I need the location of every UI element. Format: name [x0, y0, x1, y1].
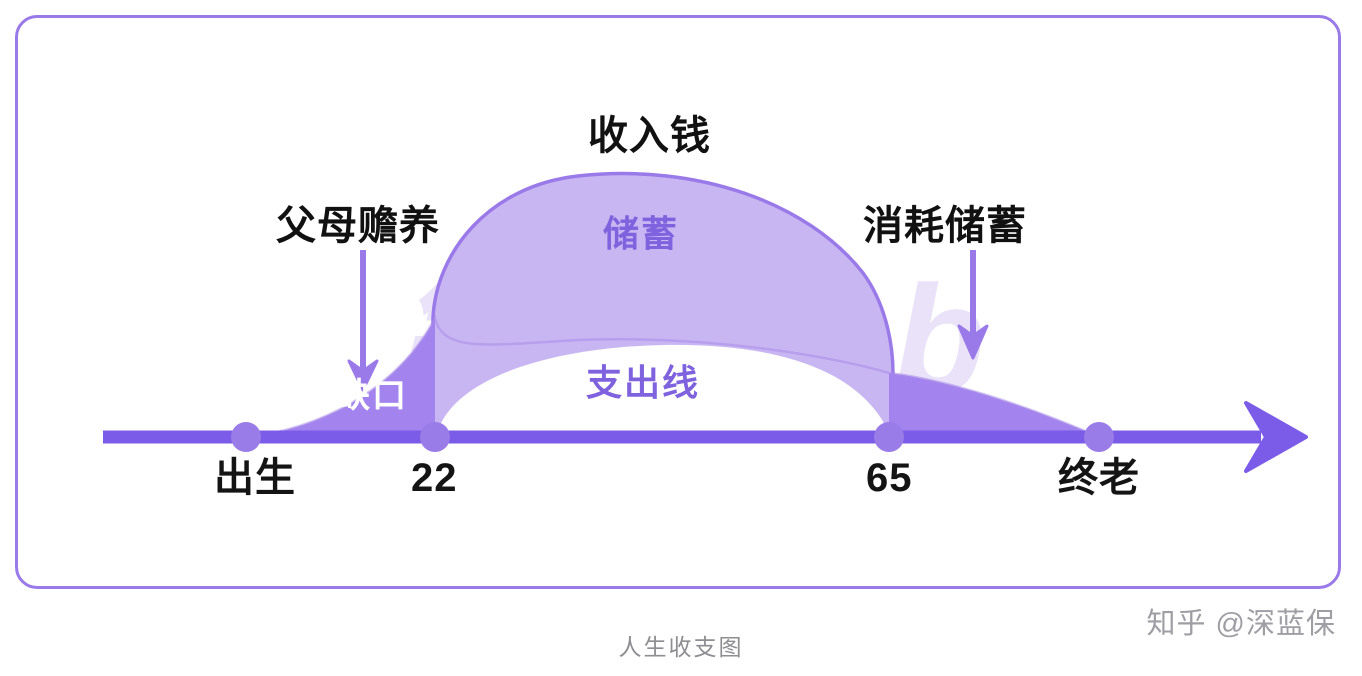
- source-attribution: 知乎 @深蓝保: [1147, 600, 1337, 642]
- axis-dot-age-22[interactable]: [420, 422, 450, 452]
- axis-label-age-65: 65: [866, 458, 913, 498]
- axis-label-age-22: 22: [411, 458, 458, 498]
- annotation-deplete-savings: 消耗储蓄: [863, 206, 1027, 246]
- deplete-savings-arrow-icon: [959, 250, 987, 358]
- annotation-parent-support: 父母赡养: [276, 206, 440, 246]
- chart-frame: 钱江cub: [15, 15, 1341, 589]
- diagram-stage: 钱江cub: [0, 0, 1362, 676]
- annotation-expense-line: 支出线: [586, 365, 700, 401]
- axis-dot-birth[interactable]: [231, 422, 261, 452]
- annotation-income-peak: 收入钱: [588, 116, 711, 156]
- life-cashflow-chart: [18, 18, 1338, 586]
- axis-label-birth: 出生: [214, 458, 296, 498]
- axis-label-end-of-life: 终老: [1058, 458, 1140, 498]
- annotation-savings-area: 储蓄: [603, 216, 679, 252]
- axis-dot-age-65[interactable]: [874, 422, 904, 452]
- axis-dot-end-of-life[interactable]: [1084, 422, 1114, 452]
- parent-support-arrow-icon: [349, 250, 377, 390]
- depletion-area: [889, 373, 1099, 437]
- annotation-gap-area: 缺口: [336, 379, 408, 413]
